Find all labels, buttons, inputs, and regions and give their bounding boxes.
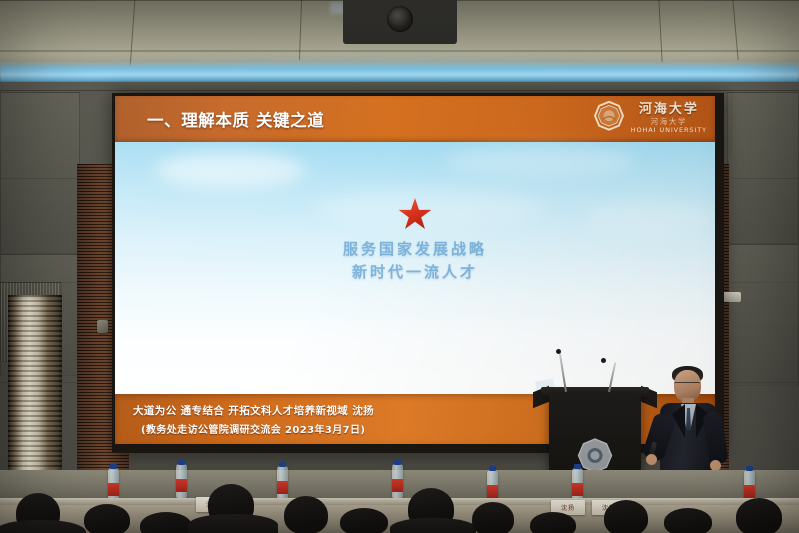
audience-member — [340, 508, 388, 533]
water-bottle — [176, 464, 187, 498]
slide-footer-line-2: (教务处走访公管院调研交流会 2023年3月7日) — [141, 421, 365, 436]
slide-body: 服务国家发展战略 新时代一流人才 — [115, 142, 715, 394]
slide-title: 一、理解本质 关键之道 — [147, 107, 324, 131]
audience-member — [604, 500, 648, 533]
university-logo-text: 河海大学 河海大学 HOHAI UNIVERSITY — [631, 103, 707, 134]
red-star-icon — [398, 198, 432, 232]
projector-lens-icon — [387, 6, 413, 32]
university-name-en: HOHAI UNIVERSITY — [631, 127, 707, 134]
water-bottle — [392, 464, 403, 498]
slide-header: 一、理解本质 关键之道 河海大学 河海大学 HOHAI UNIVERSI — [115, 96, 715, 142]
university-logo: 河海大学 河海大学 HOHAI UNIVERSITY — [591, 100, 707, 136]
university-name-cn: 河海大学 — [639, 103, 699, 116]
presenter-glasses-icon — [674, 382, 700, 389]
presenter-hand-left — [646, 454, 657, 465]
wall-outlet-icon — [97, 320, 108, 333]
audience-member — [84, 504, 130, 533]
podium-microphone-head-right — [601, 358, 606, 363]
audience-member — [140, 512, 192, 533]
lecture-hall-scene: 一、理解本质 关键之道 河海大学 河海大学 HOHAI UNIVERSI — [0, 0, 799, 533]
slide-footer-line-1: 大道为公 通专结合 开拓文科人才培养新视域 沈扬 — [133, 403, 374, 418]
ceiling-projector-icon — [343, 0, 457, 44]
audience-member — [736, 498, 782, 533]
slide-line-1: 服务国家发展战略 — [115, 238, 715, 261]
slide-line-2: 新时代一流人才 — [115, 261, 715, 284]
audience-member — [284, 496, 328, 533]
water-bottle — [572, 468, 583, 502]
audience-member — [664, 508, 712, 533]
audience-member — [390, 518, 476, 533]
audience-member — [472, 502, 514, 533]
hohai-university-emblem-icon — [591, 100, 627, 136]
university-name-cn-shadow: 河海大学 — [651, 118, 687, 126]
water-bottle — [277, 466, 288, 500]
audience-member — [188, 514, 278, 533]
blue-led-light-strip — [0, 62, 799, 84]
side-door[interactable] — [8, 295, 62, 485]
slide-center-content: 服务国家发展战略 新时代一流人才 — [115, 198, 715, 283]
table-edge — [0, 498, 799, 505]
podium-microphone-head-left — [556, 349, 561, 354]
wall-switch-icon — [723, 292, 741, 302]
water-bottle — [108, 468, 119, 502]
audience-member — [530, 512, 576, 533]
